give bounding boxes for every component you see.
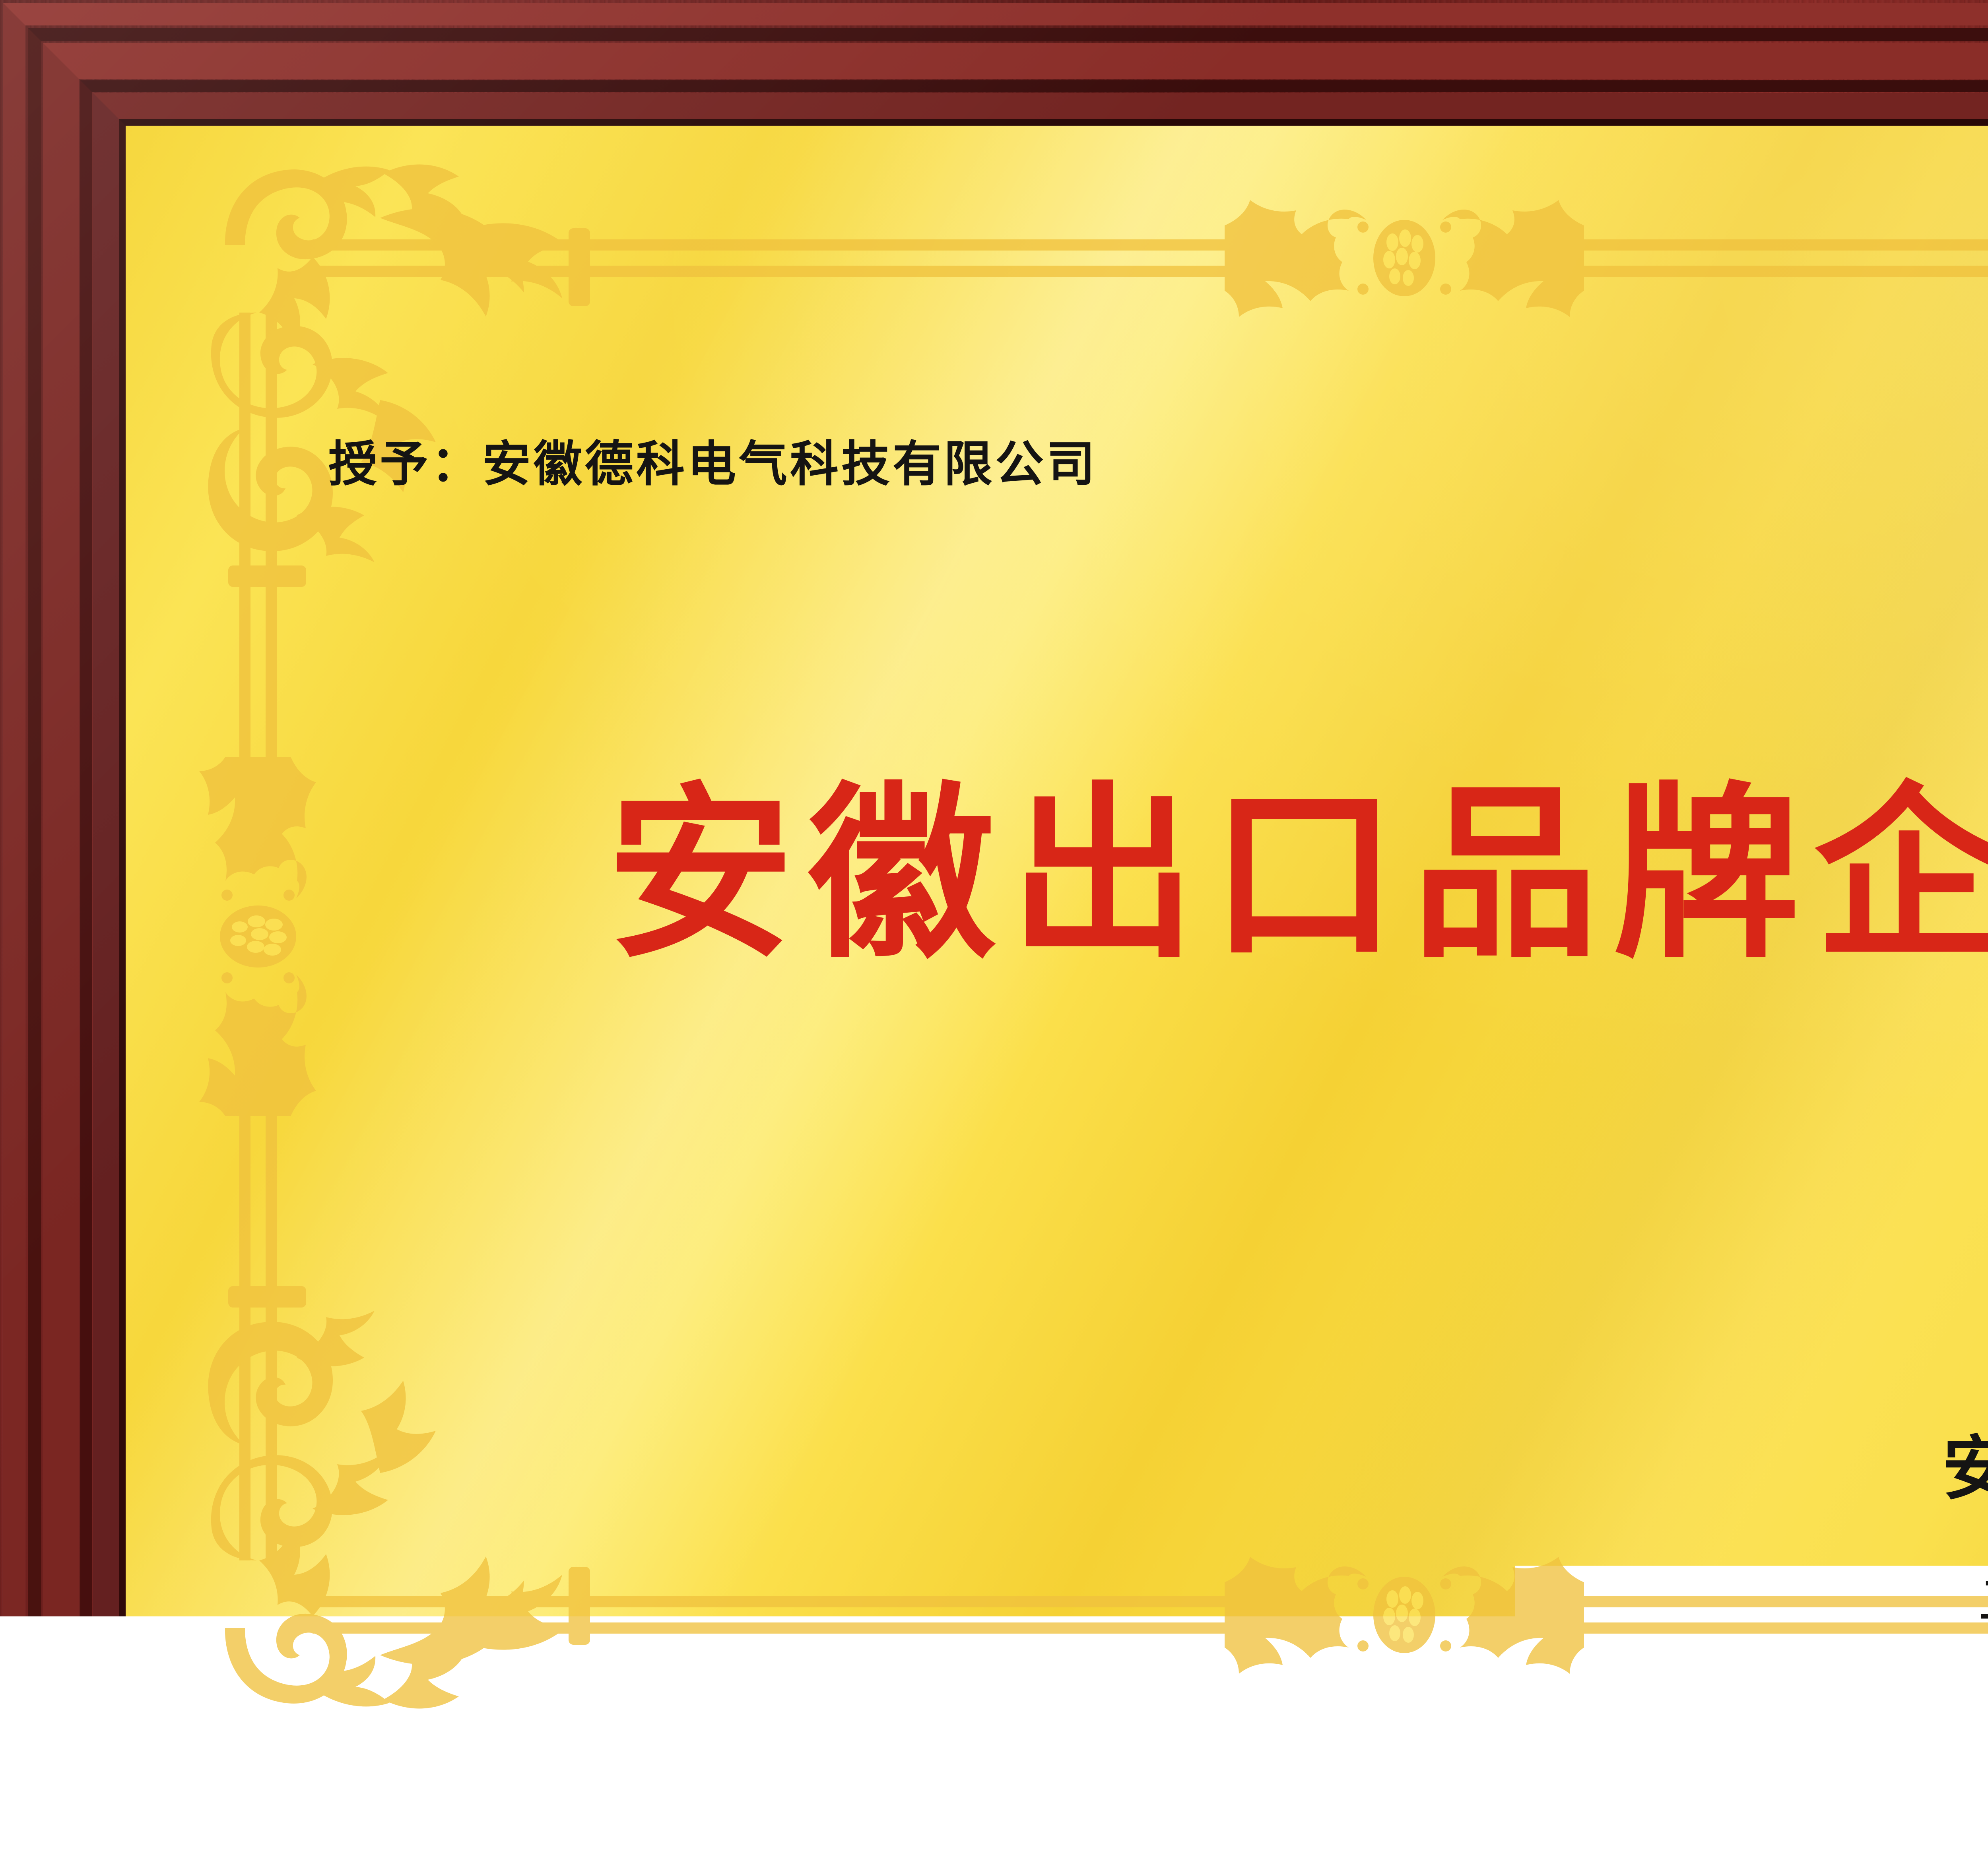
medallion-bottom [1225, 1557, 1584, 1674]
award-plaque: 授予：安徽德科电气科技有限公司 安徽出口品牌企业 安徽省商务厅 二〇二二年二月 [0, 0, 1988, 1873]
plaque-title: 安徽出口品牌企业 [126, 774, 1988, 976]
rule-top-left-2 [313, 266, 1255, 277]
issuing-authority: 安徽省商务厅 [1935, 1434, 1988, 1504]
issue-date: 二〇二二年二月 [1973, 1573, 1988, 1629]
gold-plate: 授予：安徽德科电气科技有限公司 安徽出口品牌企业 安徽省商务厅 二〇二二年二月 [126, 126, 1988, 1747]
corner-flourish-bottom-left [208, 1286, 590, 1709]
award-recipient-line: 授予：安徽德科电气科技有限公司 [328, 440, 1098, 488]
rule-top-right-2 [1554, 266, 1988, 277]
rule-top-right [1554, 239, 1988, 251]
rule-top-left [313, 239, 1255, 251]
medallion-top [1225, 200, 1584, 317]
corner-flourish-top-left [208, 164, 590, 587]
